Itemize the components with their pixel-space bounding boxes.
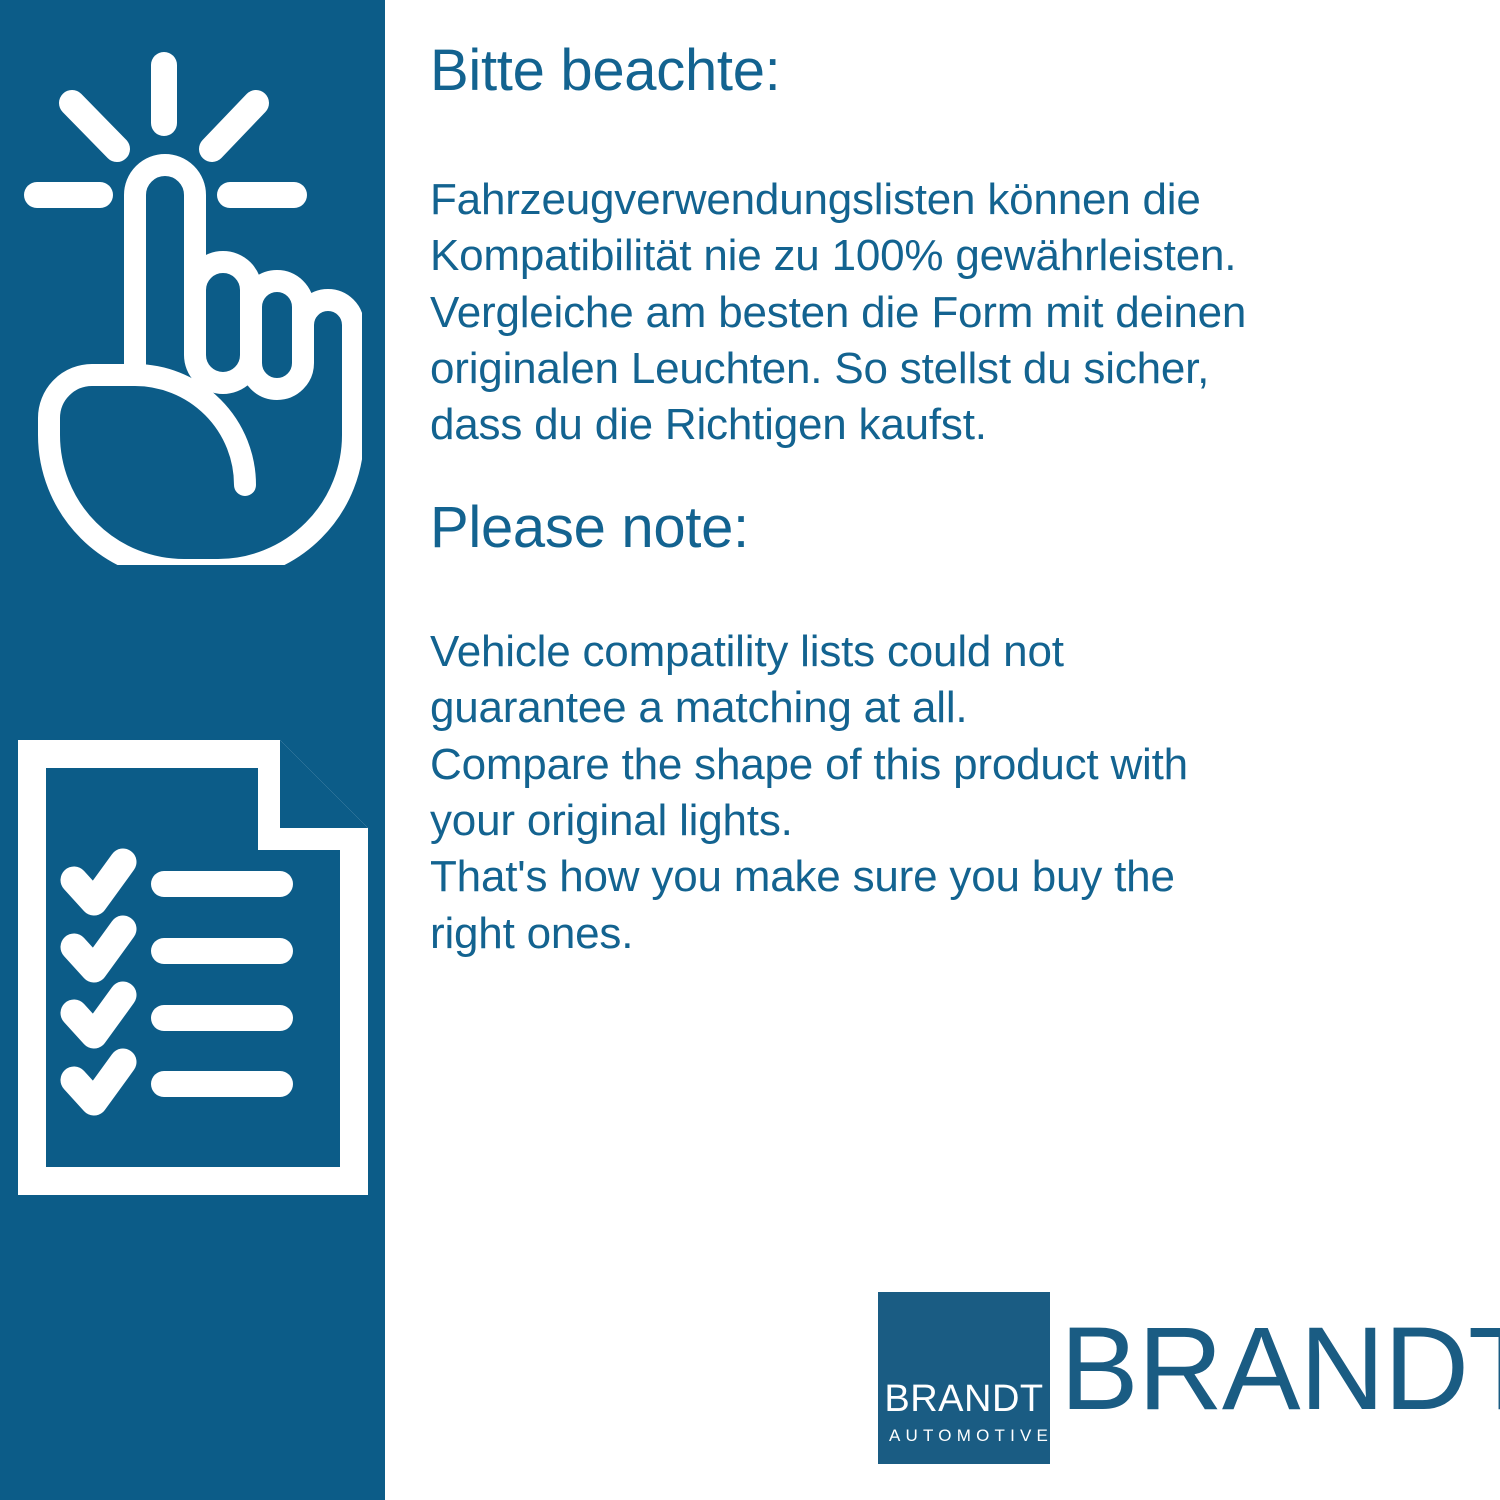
german-line-5: dass du die Richtigen kaufst. (430, 397, 1246, 453)
english-line-4: your original lights. (430, 793, 1188, 849)
logo-mark-square: BRANDT AUTOMOTIVE (878, 1292, 1050, 1464)
pointing-hand-notice-icon (22, 45, 362, 565)
notice-banner: Bitte beachte: Fahrzeugverwendungslisten… (0, 0, 1500, 1500)
english-heading: Please note: (430, 497, 749, 560)
german-line-3: Vergleiche am besten die Form mit deinen (430, 285, 1246, 341)
german-body: Fahrzeugverwendungslisten können die Kom… (430, 172, 1246, 454)
english-line-3: Compare the shape of this product with (430, 737, 1188, 793)
german-heading: Bitte beachte: (430, 40, 780, 103)
german-line-4: originalen Leuchten. So stellst du siche… (430, 341, 1246, 397)
english-line-6: right ones. (430, 906, 1188, 962)
brandt-automotive-logo: BRANDT AUTOMOTIVE BRANDT (878, 1292, 1434, 1468)
notice-content: Bitte beachte: Fahrzeugverwendungslisten… (430, 0, 1440, 1500)
english-body: Vehicle compatility lists could not guar… (430, 624, 1188, 962)
logo-mark-word: BRANDT (884, 1380, 1044, 1418)
english-line-2: guarantee a matching at all. (430, 680, 1188, 736)
english-line-1: Vehicle compatility lists could not (430, 624, 1188, 680)
sidebar (0, 0, 385, 1500)
german-line-2: Kompatibilität nie zu 100% gewährleisten… (430, 228, 1246, 284)
checklist-document-icon (18, 740, 368, 1195)
english-line-5: That's how you make sure you buy the (430, 849, 1188, 905)
logo-mark-subtitle: AUTOMOTIVE (884, 1427, 1044, 1444)
logo-wordmark: BRANDT (1060, 1310, 1500, 1428)
german-line-1: Fahrzeugverwendungslisten können die (430, 172, 1246, 228)
